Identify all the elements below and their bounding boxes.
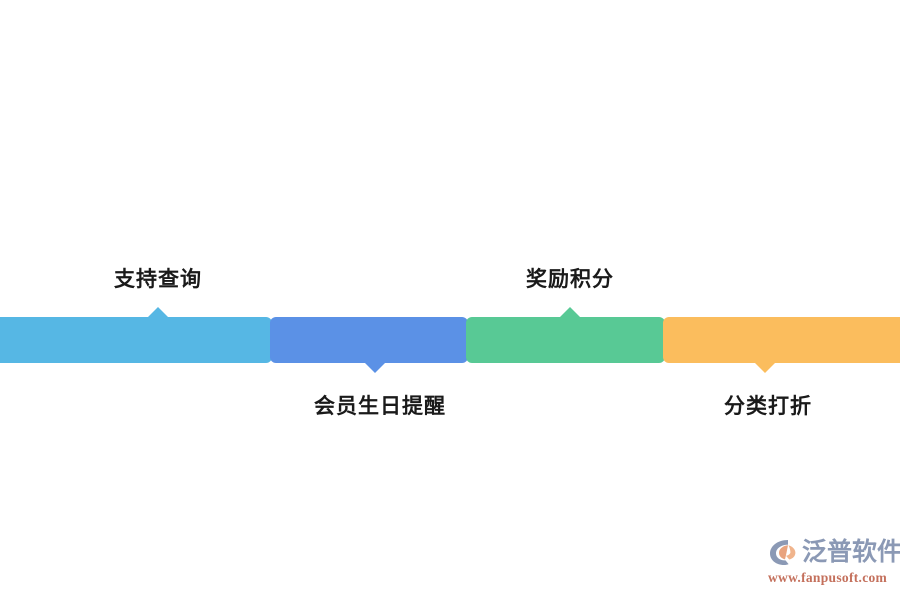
process-segment-1[interactable] xyxy=(0,317,272,363)
process-segment-2[interactable] xyxy=(270,317,468,363)
callout-arrow-up-icon-1 xyxy=(147,307,169,318)
process-segment-3[interactable] xyxy=(466,317,665,363)
process-bar xyxy=(0,317,900,363)
watermark-brand-row: 泛普软件 xyxy=(768,535,896,569)
watermark-url-text: www.fanpusoft.com xyxy=(768,570,896,586)
fanpu-logo-icon xyxy=(768,537,800,567)
watermark-logo: 泛普软件 www.fanpusoft.com xyxy=(768,535,896,591)
diagram-canvas: 支持查询 会员生日提醒 奖励积分 分类打折 泛普软件 www.fanpusoft… xyxy=(0,0,900,600)
segment-label-4: 分类打折 xyxy=(724,390,812,420)
callout-arrow-up-icon-3 xyxy=(559,307,581,318)
segment-label-3: 奖励积分 xyxy=(526,263,614,293)
callout-arrow-down-icon-4 xyxy=(754,362,776,373)
segment-label-1: 支持查询 xyxy=(114,263,202,293)
process-segment-4[interactable] xyxy=(663,317,900,363)
segment-label-2: 会员生日提醒 xyxy=(314,390,446,420)
watermark-brand-text: 泛普软件 xyxy=(802,537,900,567)
callout-arrow-down-icon-2 xyxy=(364,362,386,373)
